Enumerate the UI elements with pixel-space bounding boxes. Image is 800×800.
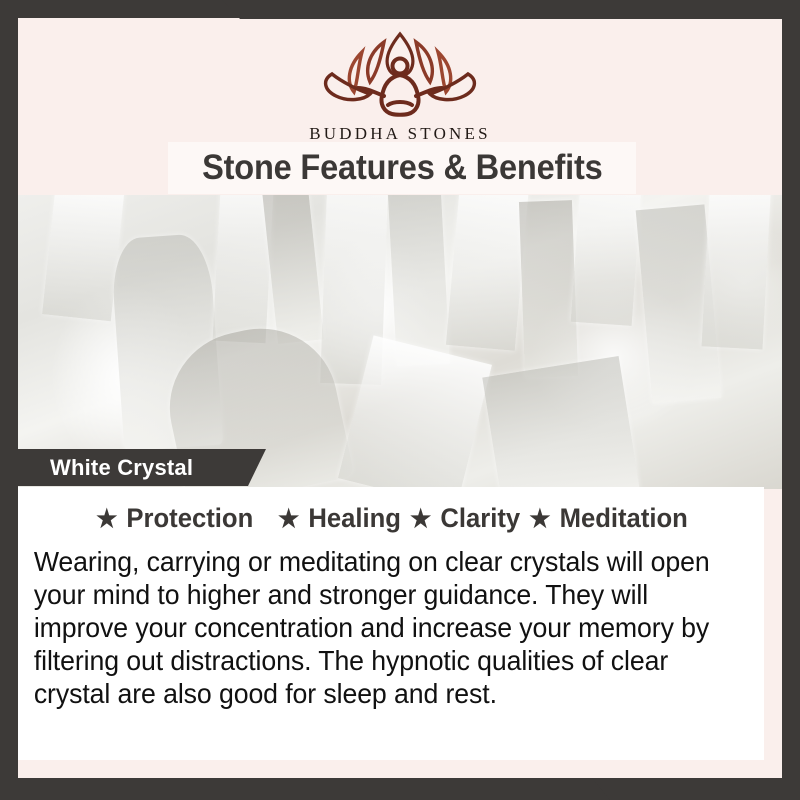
hero-caption-label: White Crystal <box>18 455 193 481</box>
benefit-star-1: ★ <box>276 505 301 533</box>
content-panel: ★ Protection ★ Healing ★ Clarity ★ Medit… <box>18 487 764 760</box>
benefit-label-clarity: Clarity <box>440 503 520 533</box>
benefit-label-meditation: Meditation <box>560 503 688 533</box>
benefit-star-0: ★ <box>94 505 119 533</box>
crystal-shard <box>482 356 639 489</box>
benefits-row: ★ Protection ★ Healing ★ Clarity ★ Medit… <box>46 503 736 534</box>
title-band: Stone Features & Benefits <box>168 142 636 194</box>
brand-name: BUDDHA STONES <box>18 124 782 144</box>
crystal-cluster-photo <box>18 195 782 489</box>
brand-logo: BUDDHA STONES <box>18 26 782 144</box>
crystal-shard <box>570 195 642 326</box>
benefit-star-3: ★ <box>527 505 552 533</box>
hero-caption-bar: White Crystal <box>18 449 266 486</box>
benefit-label-healing: Healing <box>308 503 401 533</box>
hero-image: White Crystal <box>18 195 782 489</box>
benefit-star-2: ★ <box>408 505 433 533</box>
bottom-left-accent-wedge <box>0 778 800 800</box>
description-text: Wearing, carrying or meditating on clear… <box>28 545 732 710</box>
benefit-label-protection: Protection <box>126 503 253 533</box>
lotus-meditation-icon <box>314 26 486 122</box>
crystal-shard <box>42 195 125 322</box>
crystal-shard <box>519 200 579 378</box>
crystal-shard <box>446 195 529 351</box>
header-section: BUDDHA STONES Stone Features & Benefits <box>18 18 782 195</box>
top-right-accent-wedge <box>0 0 800 19</box>
poster-root: BUDDHA STONES Stone Features & Benefits <box>0 0 800 800</box>
crystal-shard <box>262 195 324 344</box>
page-title: Stone Features & Benefits <box>202 148 603 188</box>
crystal-shard <box>701 195 771 349</box>
